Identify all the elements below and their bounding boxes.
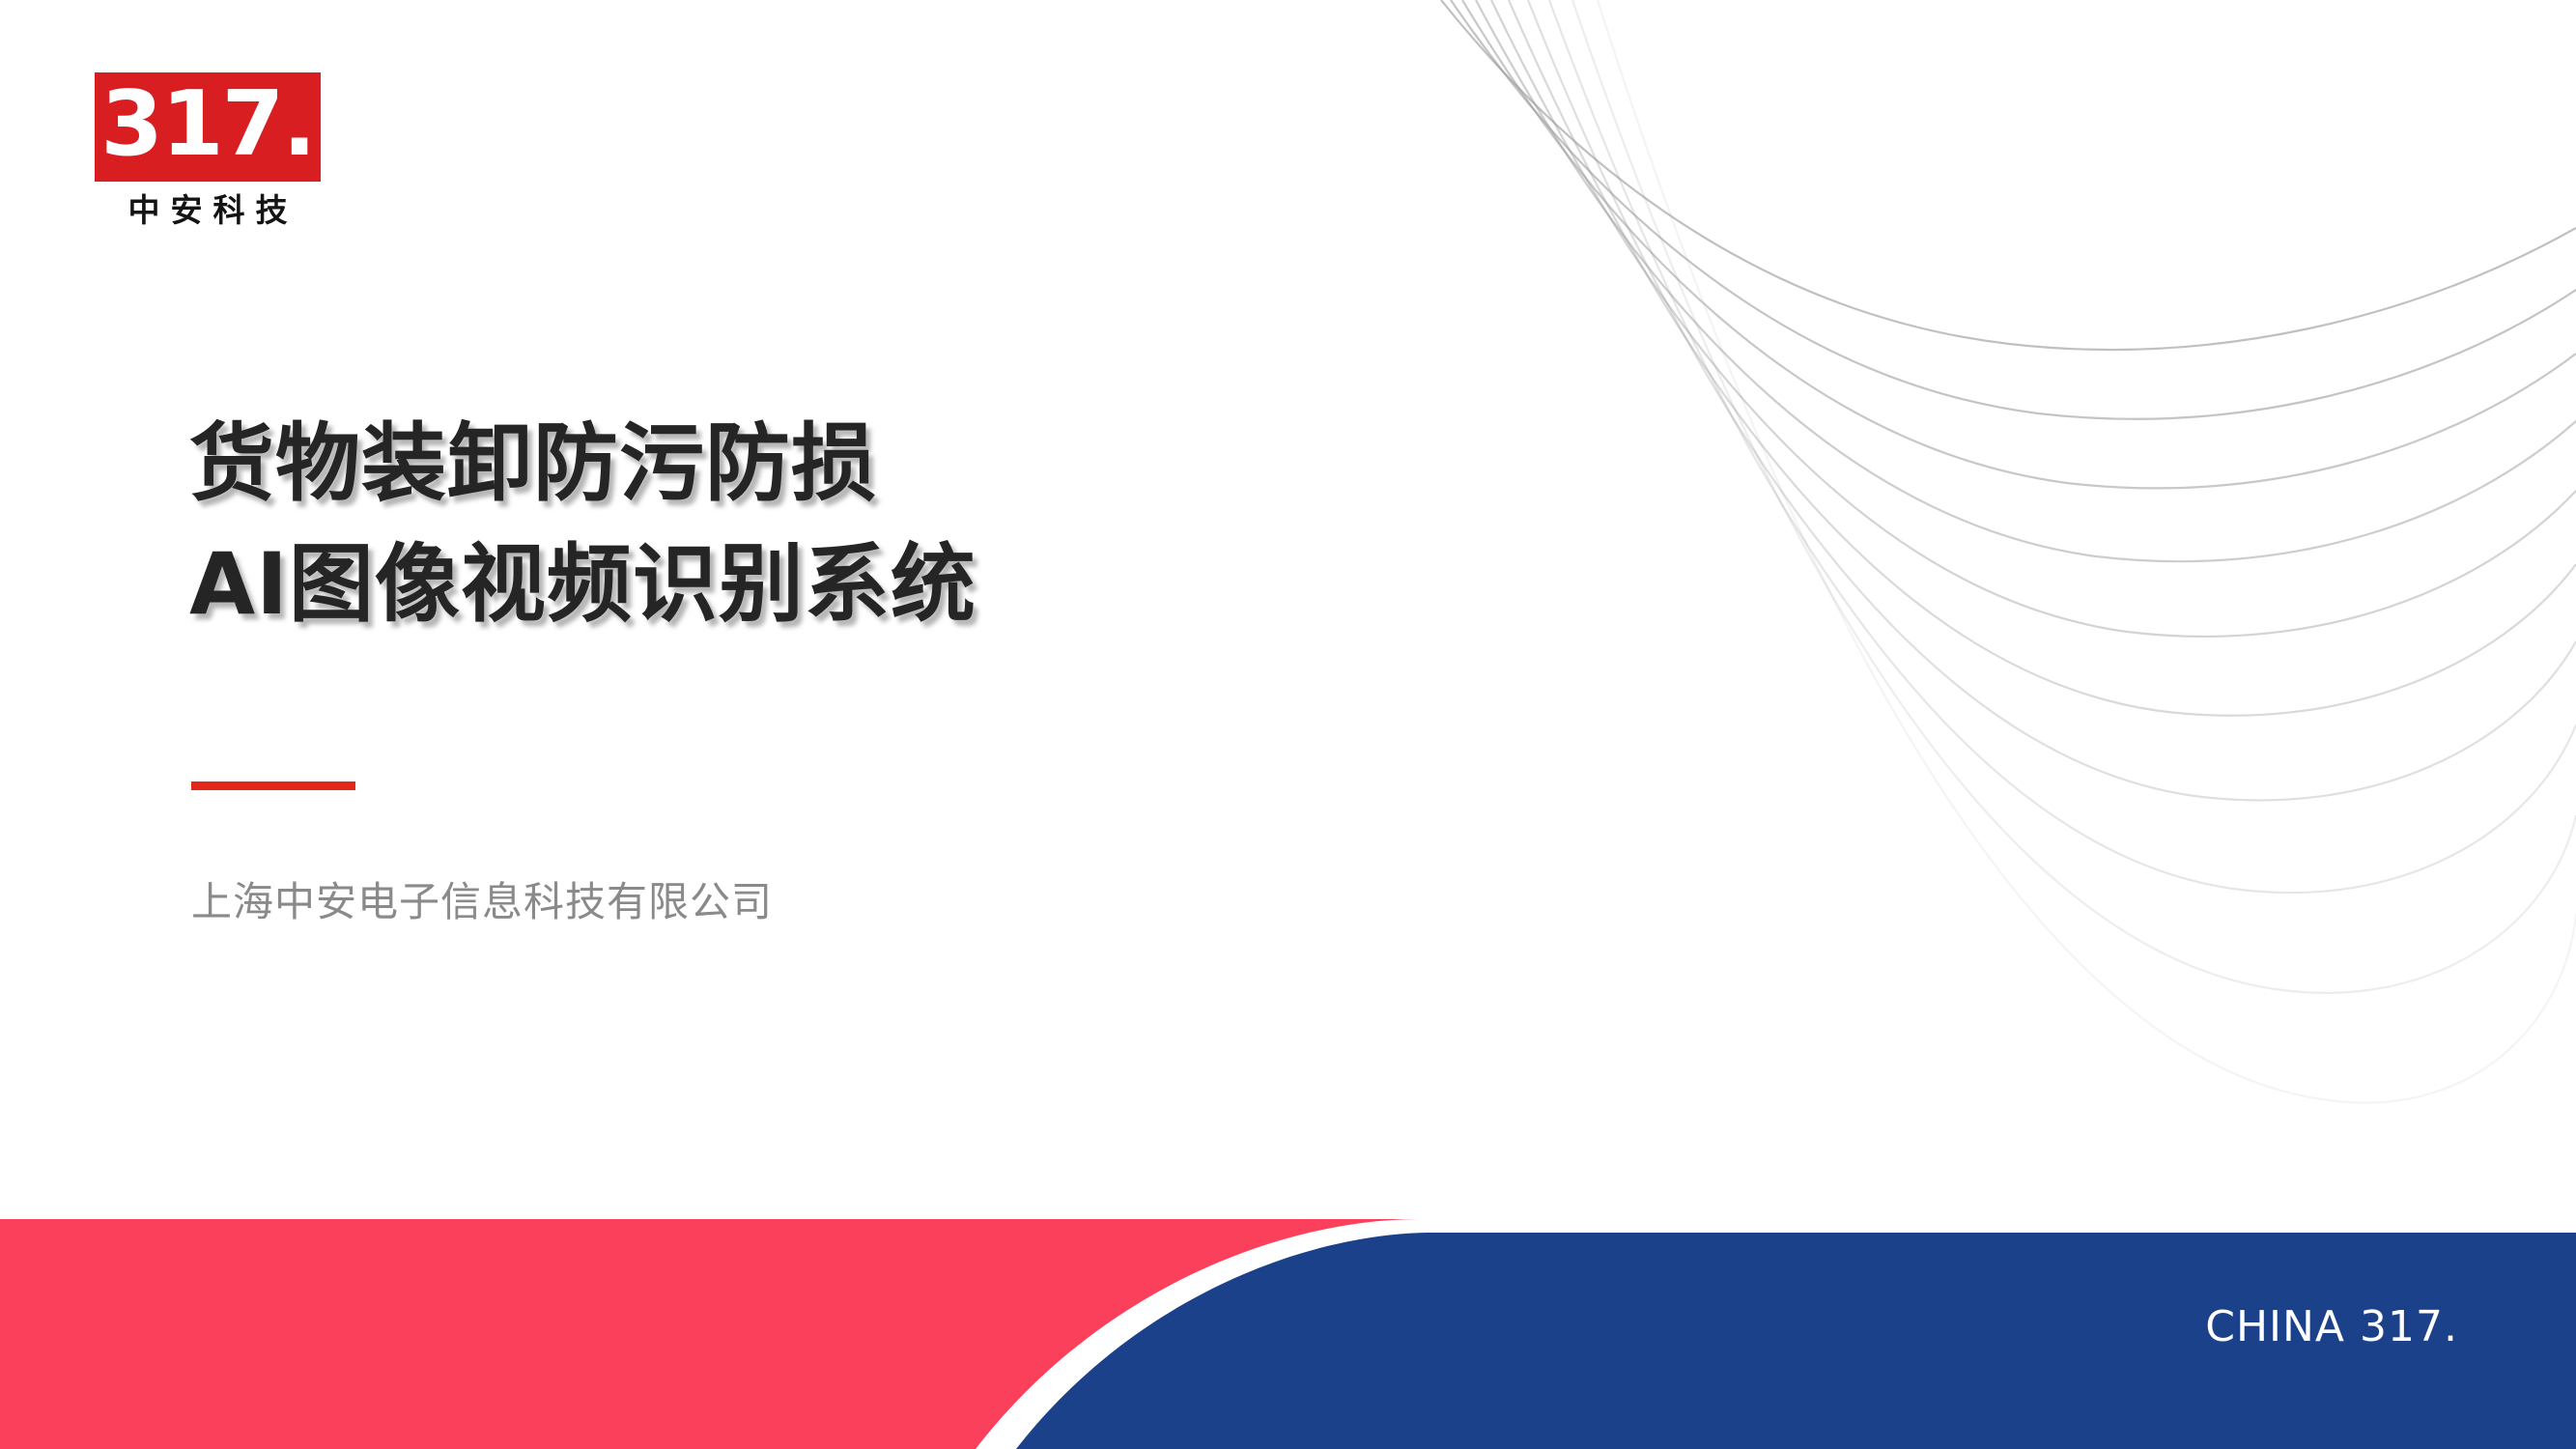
banner-brand-text: CHINA 317. xyxy=(2205,1302,2458,1351)
company-logo: 317. 中安科技 xyxy=(95,72,321,228)
page-title-line-2: AI图像视频识别系统 xyxy=(189,525,1445,645)
logo-mark: 317. xyxy=(95,72,321,182)
accent-divider xyxy=(191,781,355,790)
logo-subtitle-text: 中安科技 xyxy=(95,193,321,228)
logo-mark-text: 317. xyxy=(100,79,314,169)
page-title: 货物装卸防污防损 AI图像视频识别系统 xyxy=(189,404,1445,645)
company-name-subtitle: 上海中安电子信息科技有限公司 xyxy=(191,869,773,928)
bottom-banner: CHINA 317. xyxy=(0,1219,2576,1449)
title-slide: 317. 中安科技 货物装卸防污防损 AI图像视频识别系统 上海中安电子信息科技… xyxy=(0,0,2576,1449)
page-title-line-1: 货物装卸防污防损 xyxy=(189,404,1445,525)
banner-shapes xyxy=(0,1219,2576,1449)
